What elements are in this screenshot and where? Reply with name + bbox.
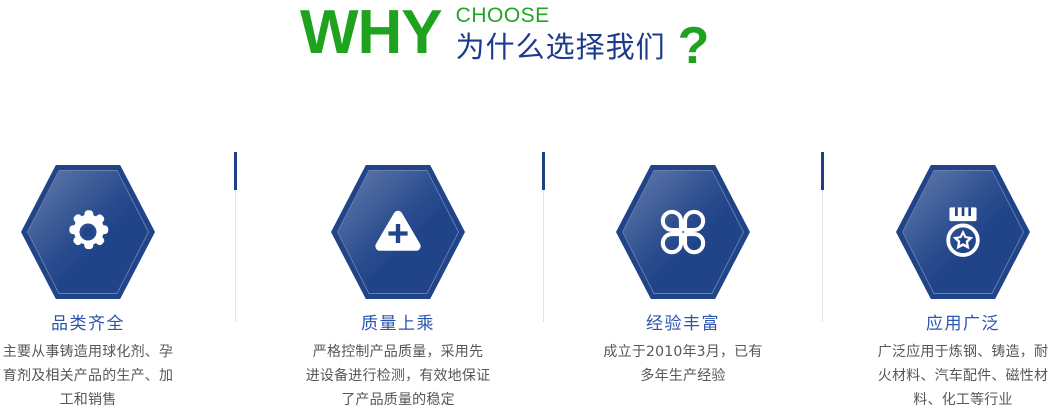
triangle-plus-icon [331, 165, 465, 299]
medal-star-icon [896, 165, 1030, 299]
card-title: 经验丰富 [568, 314, 798, 334]
header-chinese-title: 为什么选择我们 [456, 30, 666, 64]
hexagon-badge [616, 165, 750, 299]
card-description: 严格控制产品质量，采用先 进设备进行检测，有效地保证 了产品质量的稳定 [283, 340, 513, 412]
header-question-mark: ? [678, 2, 710, 72]
header-text-stack: CHOOSE 为什么选择我们 [456, 2, 666, 64]
hexagon-badge [896, 165, 1030, 299]
card-title: 应用广泛 [848, 314, 1055, 334]
header-choose-word: CHOOSE [456, 4, 666, 27]
hexagon-badge [21, 165, 155, 299]
card-description: 成立于2010年3月，已有 多年生产经验 [568, 340, 798, 388]
feature-card[interactable]: 质量上乘 严格控制产品质量，采用先 进设备进行检测，有效地保证 了产品质量的稳定 [283, 150, 513, 412]
header-why-word: WHY [300, 2, 442, 64]
feature-card[interactable]: 应用广泛 广泛应用于炼钢、铸造，耐 火材料、汽车配件、磁性材 料、化工等行业 [848, 150, 1055, 412]
card-title: 质量上乘 [283, 314, 513, 334]
header-title-group: WHY CHOOSE 为什么选择我们 ? [300, 2, 709, 72]
card-title: 品类齐全 [0, 314, 203, 334]
section-header: WHY CHOOSE 为什么选择我们 ? [0, 0, 1055, 100]
gear-icon [21, 165, 155, 299]
feature-card[interactable]: 品类齐全 主要从事铸造用球化剂、孕 育剂及相关产品的生产、加 工和销售 [0, 150, 203, 412]
hexagon-badge [331, 165, 465, 299]
feature-card[interactable]: 经验丰富 成立于2010年3月，已有 多年生产经验 [568, 150, 798, 388]
feature-cards-row: 品类齐全 主要从事铸造用球化剂、孕 育剂及相关产品的生产、加 工和销售 质量上乘… [0, 150, 1055, 416]
card-description: 主要从事铸造用球化剂、孕 育剂及相关产品的生产、加 工和销售 [0, 340, 203, 412]
four-petal-clover-icon [616, 165, 750, 299]
card-description: 广泛应用于炼钢、铸造，耐 火材料、汽车配件、磁性材 料、化工等行业 [848, 340, 1055, 412]
